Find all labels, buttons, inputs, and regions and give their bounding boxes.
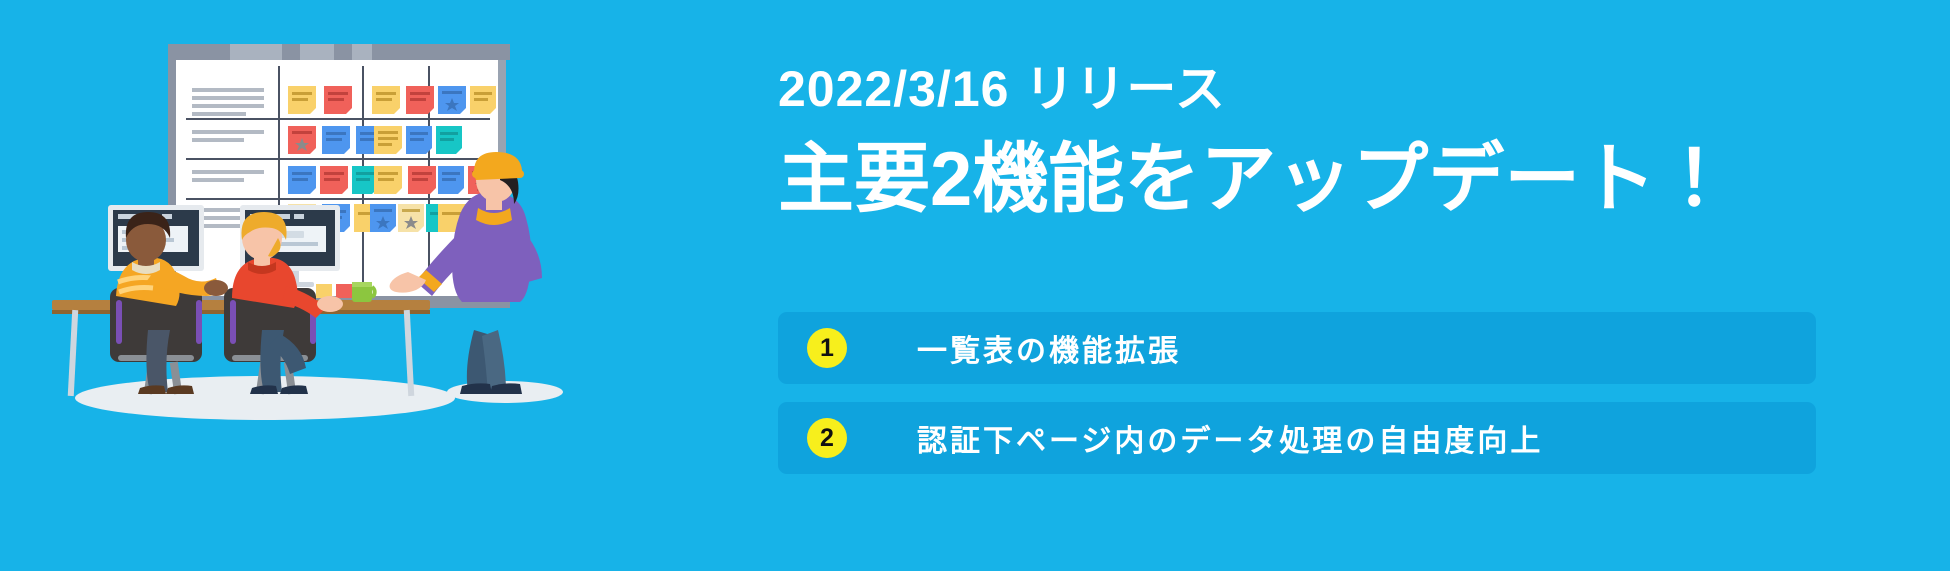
- sticky-note: [374, 126, 402, 154]
- sticky-note: [406, 86, 434, 114]
- feature-item-1[interactable]: 1 一覧表の機能拡張: [778, 312, 1816, 384]
- sticky-note: [322, 126, 350, 154]
- sticky-note: [470, 86, 496, 114]
- sticky-note-starred: [398, 204, 424, 232]
- sticky-note: [436, 126, 462, 154]
- sticky-note: [324, 86, 352, 114]
- banner-content: 2022/3/16 リリース 主要2機能をアップデート！ 1 一覧表の機能拡張 …: [778, 0, 1838, 571]
- sticky-note: [288, 86, 316, 114]
- coffee-mug: [352, 282, 375, 302]
- sticky-note: [374, 166, 402, 194]
- sticky-note: [320, 166, 348, 194]
- feature-label: 一覧表の機能拡張: [917, 326, 1181, 370]
- feature-list: 1 一覧表の機能拡張 2 認証下ページ内のデータ処理の自由度向上: [778, 312, 1816, 492]
- release-date: 2022/3/16 リリース: [778, 62, 1226, 117]
- page-title: 主要2機能をアップデート！: [778, 137, 1732, 222]
- sticky-note: [406, 126, 432, 154]
- feature-item-2[interactable]: 2 認証下ページ内のデータ処理の自由度向上: [778, 402, 1816, 474]
- sticky-note: [288, 166, 316, 194]
- sticky-note-starred: [370, 204, 396, 232]
- feature-number-badge: 2: [807, 418, 847, 458]
- desk-note: [316, 284, 332, 298]
- feature-label: 認証下ページ内のデータ処理の自由度向上: [917, 416, 1543, 460]
- desk-note: [336, 284, 352, 298]
- feature-number-badge: 1: [807, 328, 847, 368]
- sticky-note: [408, 166, 436, 194]
- sticky-note-starred: [288, 126, 316, 154]
- sticky-note: [438, 166, 464, 194]
- sticky-note: [372, 86, 400, 114]
- sticky-note-starred: [438, 86, 466, 114]
- team-kanban-board-illustration: [0, 0, 760, 571]
- release-banner: 2022/3/16 リリース 主要2機能をアップデート！ 1 一覧表の機能拡張 …: [0, 0, 1950, 571]
